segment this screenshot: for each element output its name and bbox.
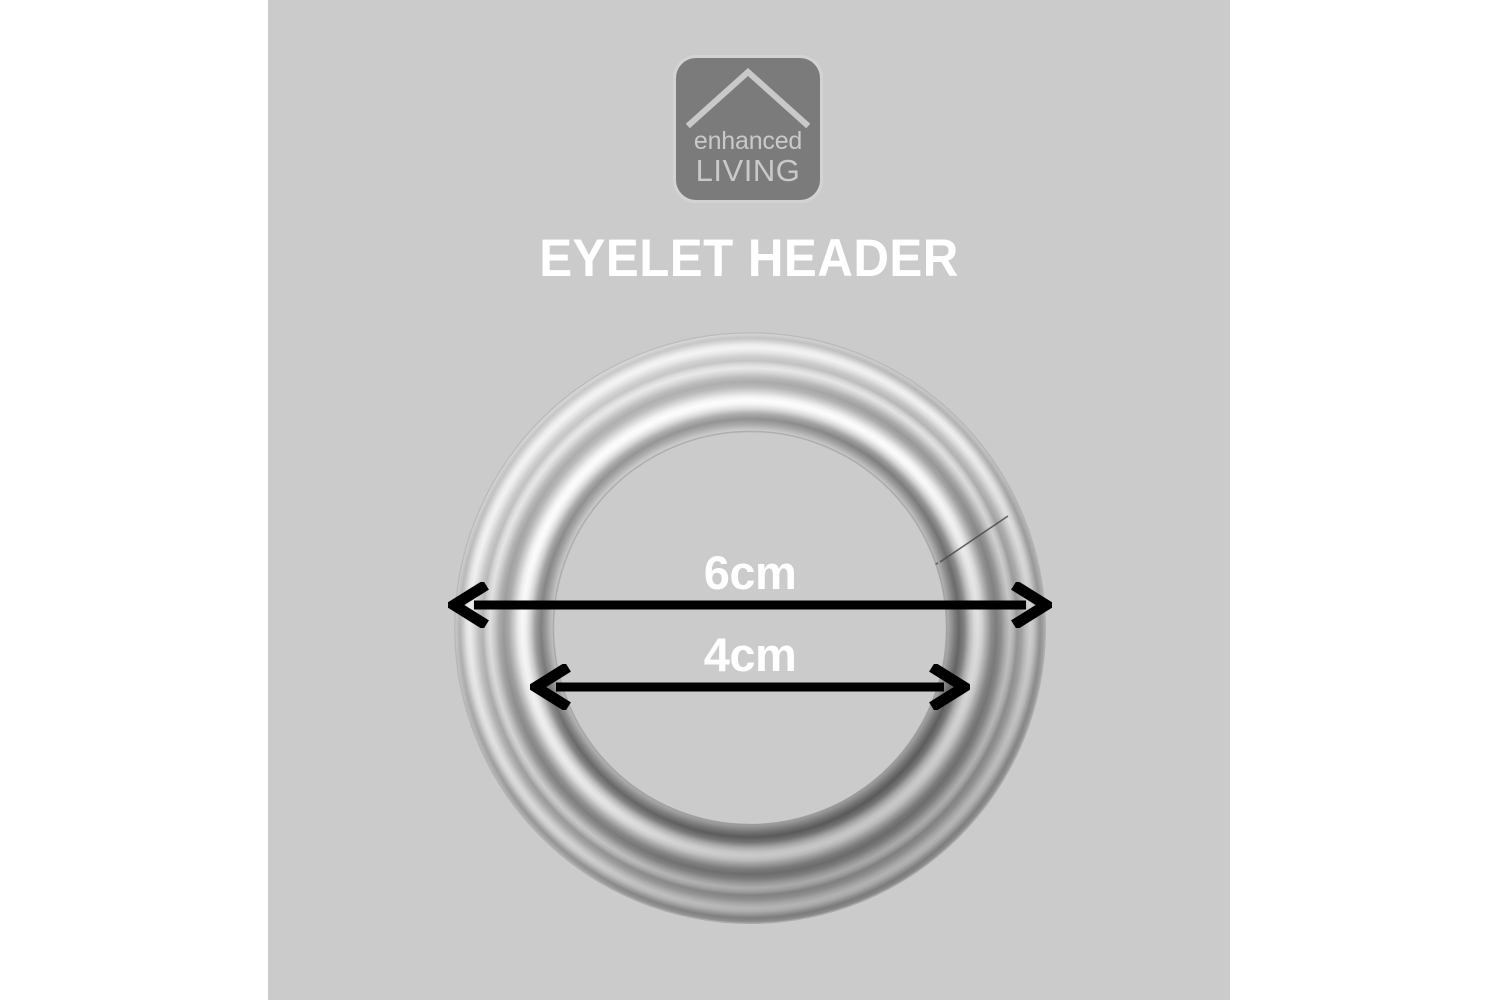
brand-wordmark-line2: LIVING [676,154,820,187]
roof-chevron-icon [686,66,810,128]
brand-logo-badge: enhanced LIVING [676,58,820,200]
brand-wordmark-line1: enhanced [676,128,820,154]
brand-wordmark: enhanced LIVING [676,128,820,187]
product-image-canvas: enhanced LIVING EYELET HEADER [0,0,1500,1000]
dimension-arrow-inner [530,664,970,710]
dimension-arrow-outer [448,582,1052,628]
page-title: EYELET HEADER [302,228,1197,289]
